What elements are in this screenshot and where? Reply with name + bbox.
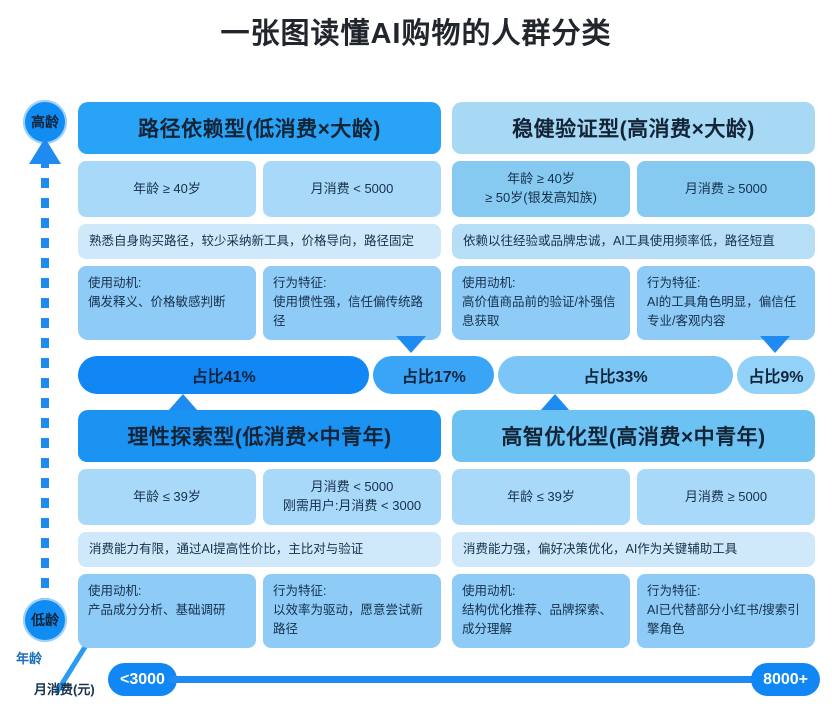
- traits-row: 使用动机: 高价值商品前的验证/补强信息获取 行为特征: AI的工具角色明显，偏…: [452, 266, 815, 340]
- criteria-age: 年龄 ≤ 39岁: [452, 469, 630, 525]
- behavior-text: 以效率为驱动，愿意尝试新路径: [273, 601, 431, 639]
- criteria-age: 年龄 ≥ 40岁≥ 50岁(银发高知族): [452, 161, 630, 217]
- page-title: 一张图读懂AI购物的人群分类: [0, 10, 832, 52]
- behavior-label: 行为特征:: [273, 274, 431, 293]
- motive-label: 使用动机:: [88, 582, 246, 601]
- behavior-cell: 行为特征: AI已代替部分小红书/搜索引擎角色: [637, 574, 815, 648]
- infographic-root: 一张图读懂AI购物的人群分类 高龄 低龄 年龄 月消费(元) 路径依赖型(低消费…: [0, 0, 832, 718]
- motive-text: 产品成分分析、基础调研: [88, 601, 246, 620]
- quadrant-card-bottom-right[interactable]: 高智优化型(高消费×中青年) 年龄 ≤ 39岁 月消费 ≥ 5000 消费能力强…: [452, 410, 815, 648]
- connector-chevron-up-right-icon: [540, 394, 570, 411]
- quadrant-card-bottom-left[interactable]: 理性探索型(低消费×中青年) 年龄 ≤ 39岁 月消费 < 5000刚需用户:月…: [78, 410, 441, 648]
- quadrant-description: 依赖以往经验或品牌忠诚，AI工具使用频率低，路径短直: [452, 224, 815, 259]
- criteria-spend: 月消费 ≥ 5000: [637, 161, 815, 217]
- quadrant-title-bottom-right: 高智优化型(高消费×中青年): [452, 410, 815, 462]
- traits-row: 使用动机: 结构优化推荐、品牌探索、成分理解 行为特征: AI已代替部分小红书/…: [452, 574, 815, 648]
- criteria-spend: 月消费 < 5000刚需用户:月消费 < 3000: [263, 469, 441, 525]
- spend-axis-max-label: 8000+: [751, 663, 820, 696]
- age-axis-line: [41, 158, 49, 616]
- traits-row: 使用动机: 偶发释义、价格敏感判断 行为特征: 使用惯性强，信任偏传统路径: [78, 266, 441, 340]
- behavior-cell: 行为特征: AI的工具角色明显，偏信任专业/客观内容: [637, 266, 815, 340]
- connector-chevron-down-right-icon: [760, 336, 790, 353]
- motive-label: 使用动机:: [462, 274, 620, 293]
- quadrant-title-bottom-left: 理性探索型(低消费×中青年): [78, 410, 441, 462]
- quadrant-description: 消费能力有限，通过AI提高性价比，主比对与验证: [78, 532, 441, 567]
- motive-cell: 使用动机: 偶发释义、价格敏感判断: [78, 266, 256, 340]
- age-axis-low-label: 低龄: [23, 598, 67, 642]
- motive-cell: 使用动机: 结构优化推荐、品牌探索、成分理解: [452, 574, 630, 648]
- criteria-row: 年龄 ≥ 40岁≥ 50岁(银发高知族) 月消费 ≥ 5000: [452, 161, 815, 217]
- axis-name-age: 年龄: [16, 648, 42, 667]
- quadrant-card-top-left[interactable]: 路径依赖型(低消费×大龄) 年龄 ≥ 40岁 月消费 < 5000 熟悉自身购买…: [78, 102, 441, 340]
- criteria-spend: 月消费 ≥ 5000: [637, 469, 815, 525]
- behavior-cell: 行为特征: 使用惯性强，信任偏传统路径: [263, 266, 441, 340]
- quadrant-card-top-right[interactable]: 稳健验证型(高消费×大龄) 年龄 ≥ 40岁≥ 50岁(银发高知族) 月消费 ≥…: [452, 102, 815, 340]
- criteria-age: 年龄 ≤ 39岁: [78, 469, 256, 525]
- share-band: 占比41% 占比17% 占比33% 占比9%: [78, 356, 815, 394]
- motive-cell: 使用动机: 高价值商品前的验证/补强信息获取: [452, 266, 630, 340]
- motive-label: 使用动机:: [462, 582, 620, 601]
- quadrant-description: 消费能力强，偏好决策优化，AI作为关键辅助工具: [452, 532, 815, 567]
- share-segment-1[interactable]: 占比41%: [78, 356, 369, 394]
- behavior-text: 使用惯性强，信任偏传统路径: [273, 293, 431, 331]
- share-segment-2[interactable]: 占比17%: [373, 356, 494, 394]
- behavior-label: 行为特征:: [647, 582, 805, 601]
- motive-text: 结构优化推荐、品牌探索、成分理解: [462, 601, 620, 639]
- behavior-cell: 行为特征: 以效率为驱动，愿意尝试新路径: [263, 574, 441, 648]
- traits-row: 使用动机: 产品成分分析、基础调研 行为特征: 以效率为驱动，愿意尝试新路径: [78, 574, 441, 648]
- spend-axis-line: [168, 676, 768, 683]
- behavior-label: 行为特征:: [273, 582, 431, 601]
- criteria-spend: 月消费 < 5000: [263, 161, 441, 217]
- behavior-text: AI的工具角色明显，偏信任专业/客观内容: [647, 293, 805, 331]
- quadrant-description: 熟悉自身购买路径，较少采纳新工具，价格导向，路径固定: [78, 224, 441, 259]
- motive-cell: 使用动机: 产品成分分析、基础调研: [78, 574, 256, 648]
- connector-chevron-up-left-icon: [168, 394, 198, 411]
- motive-text: 高价值商品前的验证/补强信息获取: [462, 293, 620, 331]
- axis-name-spend: 月消费(元): [34, 679, 95, 698]
- quadrant-title-top-right: 稳健验证型(高消费×大龄): [452, 102, 815, 154]
- behavior-label: 行为特征:: [647, 274, 805, 293]
- motive-label: 使用动机:: [88, 274, 246, 293]
- criteria-row: 年龄 ≥ 40岁 月消费 < 5000: [78, 161, 441, 217]
- spend-axis-min-label: <3000: [108, 663, 177, 696]
- motive-text: 偶发释义、价格敏感判断: [88, 293, 246, 312]
- criteria-row: 年龄 ≤ 39岁 月消费 < 5000刚需用户:月消费 < 3000: [78, 469, 441, 525]
- criteria-row: 年龄 ≤ 39岁 月消费 ≥ 5000: [452, 469, 815, 525]
- share-segment-4[interactable]: 占比9%: [737, 356, 815, 394]
- share-segment-3[interactable]: 占比33%: [498, 356, 733, 394]
- quadrant-title-top-left: 路径依赖型(低消费×大龄): [78, 102, 441, 154]
- criteria-age: 年龄 ≥ 40岁: [78, 161, 256, 217]
- spend-axis: <3000 8000+: [108, 660, 820, 700]
- age-axis: 高龄 低龄: [22, 100, 70, 630]
- behavior-text: AI已代替部分小红书/搜索引擎角色: [647, 601, 805, 639]
- connector-chevron-down-left-icon: [396, 336, 426, 353]
